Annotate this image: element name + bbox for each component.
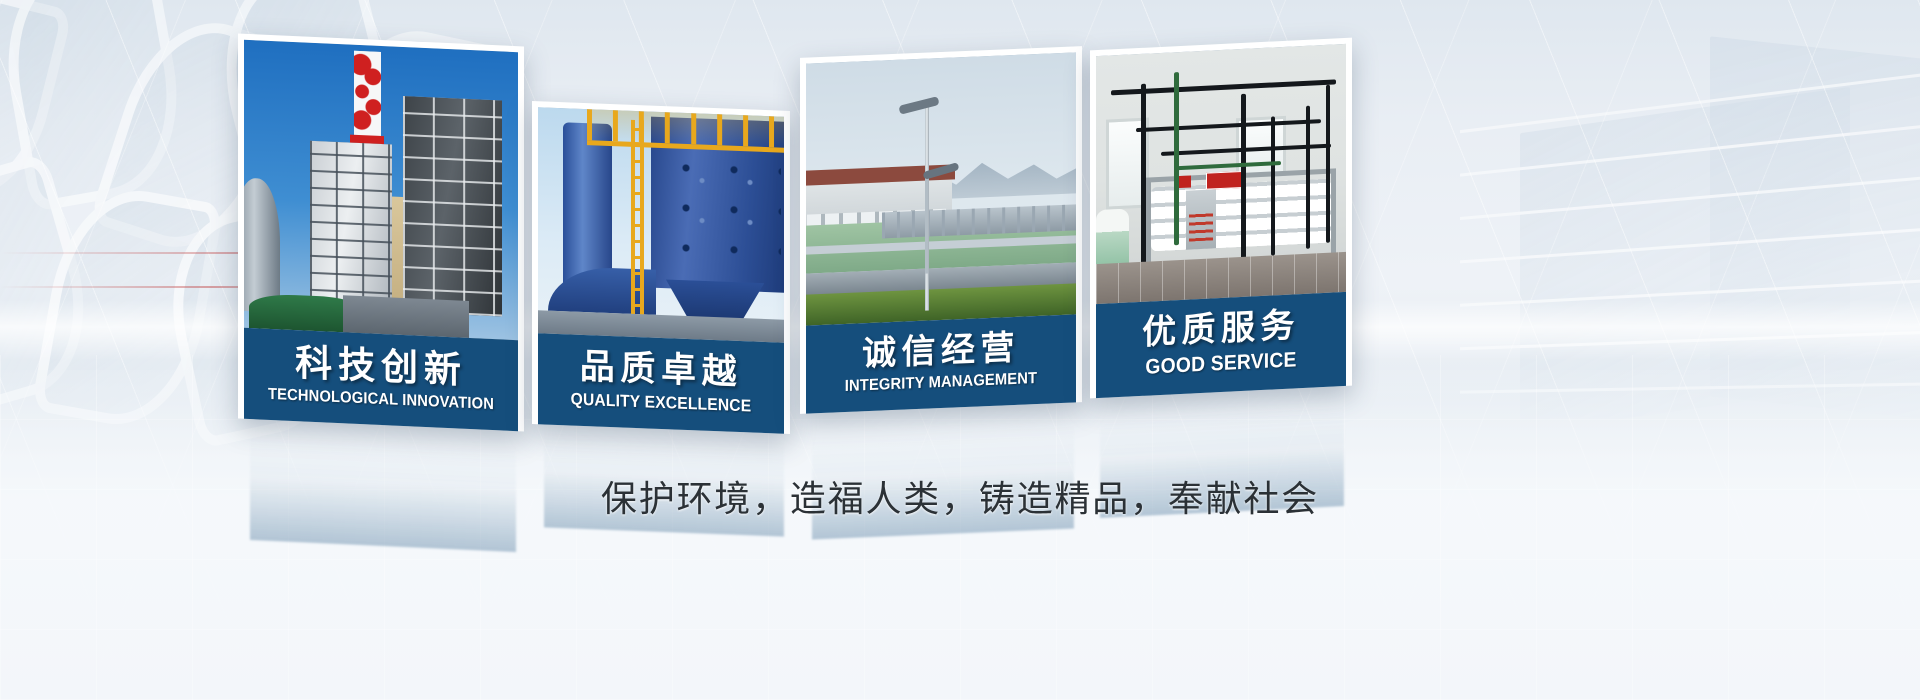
card-title-en: QUALITY EXCELLENCE xyxy=(553,389,768,417)
value-card-quality-excellence[interactable]: 品质卓越 QUALITY EXCELLENCE xyxy=(532,101,790,434)
card-title-cn: 诚信经营 xyxy=(812,329,1070,376)
value-card-integrity-management[interactable]: 诚信经营 INTEGRITY MANAGEMENT xyxy=(800,46,1082,414)
value-card-list: 科技创新 TECHNOLOGICAL INNOVATION 品质卓越 QUALI… xyxy=(0,0,1920,700)
card-caption: 优质服务 GOOD SERVICE xyxy=(1096,292,1346,398)
value-card-technological-innovation[interactable]: 科技创新 TECHNOLOGICAL INNOVATION xyxy=(238,34,524,432)
card-photo-water-treatment xyxy=(806,52,1076,325)
banner-tagline: 保护环境，造福人类，铸造精品，奉献社会 xyxy=(0,470,1920,522)
card-caption: 品质卓越 QUALITY EXCELLENCE xyxy=(538,333,784,433)
value-card-good-service[interactable]: 优质服务 GOOD SERVICE xyxy=(1090,38,1352,399)
card-title-cn: 优质服务 xyxy=(1102,306,1340,353)
card-title-cn: 科技创新 xyxy=(250,342,512,393)
card-caption: 科技创新 TECHNOLOGICAL INNOVATION xyxy=(244,328,518,431)
card-photo-ro-membrane-room xyxy=(1096,44,1346,304)
card-photo-power-plant xyxy=(244,40,518,340)
hero-banner: 科技创新 TECHNOLOGICAL INNOVATION 品质卓越 QUALI… xyxy=(0,0,1920,700)
card-photo-dust-collector xyxy=(538,107,784,342)
card-title-cn: 品质卓越 xyxy=(544,348,778,394)
card-caption: 诚信经营 INTEGRITY MANAGEMENT xyxy=(806,314,1076,413)
